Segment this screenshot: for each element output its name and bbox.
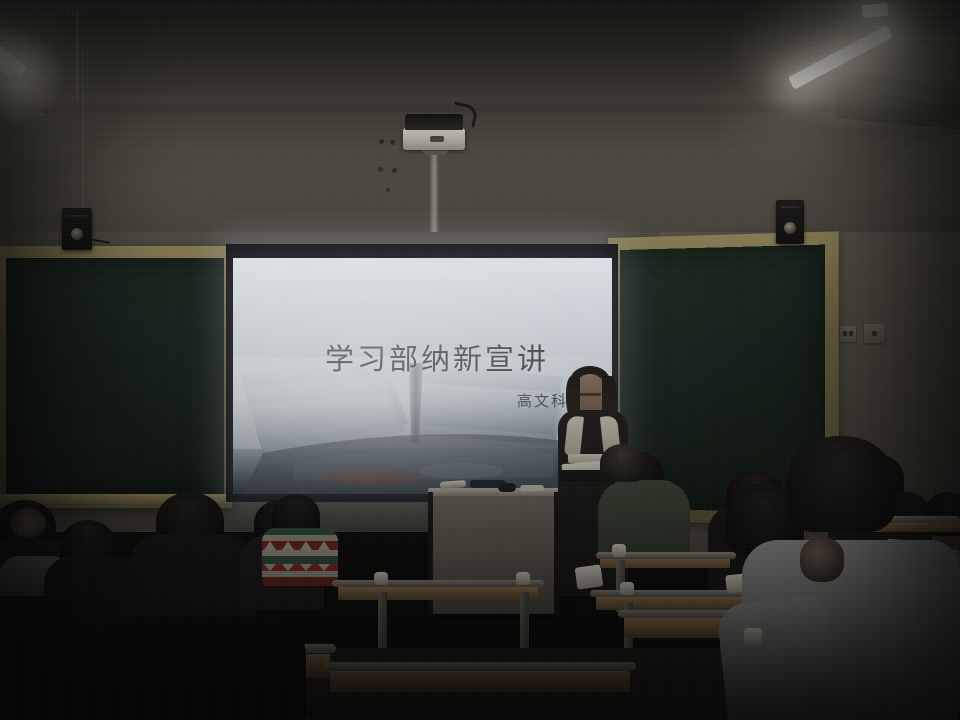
classroom-photo: 学习部纳新宣讲 高文科 <box>0 0 960 720</box>
student-patterned-sweater <box>262 528 338 586</box>
presenter-paper-lower <box>575 564 604 589</box>
desk-cap-row2-b <box>516 572 530 585</box>
student-head-grey-hoodie <box>786 436 896 532</box>
ceiling-hanging-rod <box>76 12 79 100</box>
desk-cap-row2-right <box>620 582 634 595</box>
ceiling-seam-right <box>560 0 562 96</box>
desk-rail-row2-center <box>332 580 544 587</box>
student-hoodie-hand <box>800 538 844 582</box>
desk-cap-row2-a <box>374 572 388 585</box>
fluorescent-tube-right-end <box>862 3 889 18</box>
projector-lens <box>430 136 444 142</box>
student-hoodie-arm <box>716 595 838 720</box>
student-foreground-center <box>96 616 306 720</box>
slide-title: 学习部纳新宣讲 <box>325 336 549 378</box>
ceiling <box>0 0 960 250</box>
ceiling-beam-upper <box>0 4 960 14</box>
ceiling-hole-4 <box>392 168 397 173</box>
light-switch[interactable] <box>840 326 856 342</box>
desk-top-row2-center <box>338 586 538 600</box>
left-blackboard <box>6 258 224 496</box>
desk-cap-row3 <box>612 544 626 557</box>
power-outlet[interactable] <box>864 324 884 343</box>
ceiling-hole-5 <box>386 188 390 192</box>
ceiling-hole-1 <box>379 139 384 144</box>
ceiling-hole-3 <box>378 167 383 172</box>
ceiling-seam <box>82 0 84 230</box>
lectern-mouse <box>498 483 516 492</box>
desk-top-row2-right <box>596 596 746 610</box>
student-hand-far-left <box>10 508 46 538</box>
projector-pole <box>430 152 439 236</box>
ceiling-hole-2 <box>390 140 395 145</box>
ceiling-fixture-dot <box>43 110 47 114</box>
lectern-paper-right <box>520 485 544 491</box>
presenter-glasses <box>579 393 601 396</box>
wall-speaker-right <box>776 200 804 244</box>
desk-rail-row1-center <box>324 662 636 671</box>
student-head-center-far <box>600 444 644 482</box>
desk-cap-front-right <box>744 628 762 646</box>
ceiling-beam <box>0 96 960 112</box>
desk-top-row1-center <box>330 670 630 692</box>
wall-speaker-left <box>62 208 92 250</box>
